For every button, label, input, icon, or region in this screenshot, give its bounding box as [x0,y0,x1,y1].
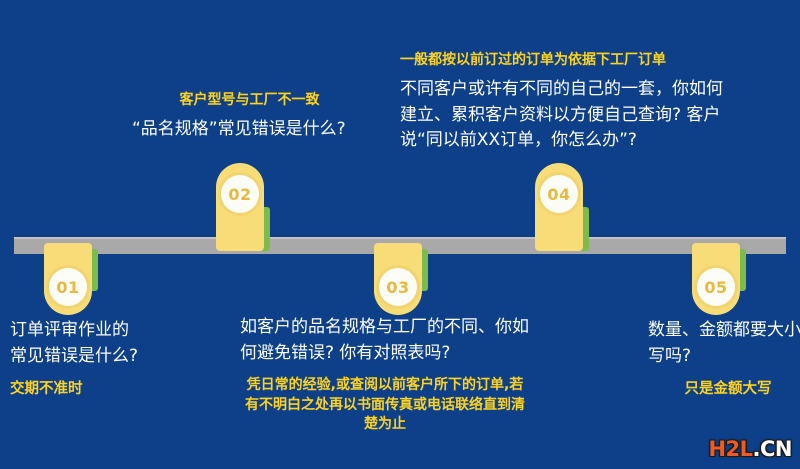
marker-number-label: 03 [386,278,409,297]
block-headline: 客户型号与工厂不一致 [132,90,367,111]
watermark-secondary-text: .CN [753,437,792,461]
marker-number-label: 04 [547,185,570,204]
watermark-logo: H2L.CN [708,437,792,461]
marker-number-badge: 03 [379,268,417,306]
marker-number-badge: 02 [221,175,259,213]
block-answer: 只是金额大写 [648,379,800,400]
marker-number-label: 01 [56,278,79,297]
marker-number-label: 02 [228,185,251,204]
marker-number-label: 05 [704,278,727,297]
marker-number-badge: 01 [49,268,87,306]
content-block-02: 客户型号与工厂不一致 “品名规格”常见错误是什么? [132,90,367,143]
content-block-04: 一般都按以前订过的订单为依据下工厂订单 不同客户或许有不同的自己的一套，你如何建… [400,50,730,154]
content-block-05: 数量、金额都要大小写吗? 只是金额大写 [648,318,800,400]
marker-number-badge: 04 [540,175,578,213]
block-question: “品名规格”常见错误是什么? [132,117,367,143]
content-block-01: 订单评审作业的 常见错误是什么? 交期不准时 [10,318,240,400]
block-question: 如客户的品名规格与工厂的不同、你如何避免错误? 你有对照表吗? [240,315,530,366]
block-question: 订单评审作业的 常见错误是什么? [10,318,240,369]
block-question: 数量、金额都要大小写吗? [648,318,800,369]
block-headline: 一般都按以前订过的订单为依据下工厂订单 [400,50,730,71]
block-question: 不同客户或许有不同的自己的一套，你如何建立、累积客户资料以方便自己查询? 客户说… [400,77,730,154]
block-answer: 交期不准时 [10,379,240,400]
watermark-primary-text: H2L [708,437,752,461]
content-block-03: 如客户的品名规格与工厂的不同、你如何避免错误? 你有对照表吗? 凭日常的经验,或… [240,315,530,435]
block-answer: 凭日常的经验,或查阅以前客户所下的订单,若有不明白之处再以书面传真或电话联络直到… [240,376,530,435]
infographic-canvas: 01 02 03 04 05 订单评审作业的 常见错误是什么? 交期不准时 [0,0,800,469]
marker-number-badge: 05 [697,268,735,306]
